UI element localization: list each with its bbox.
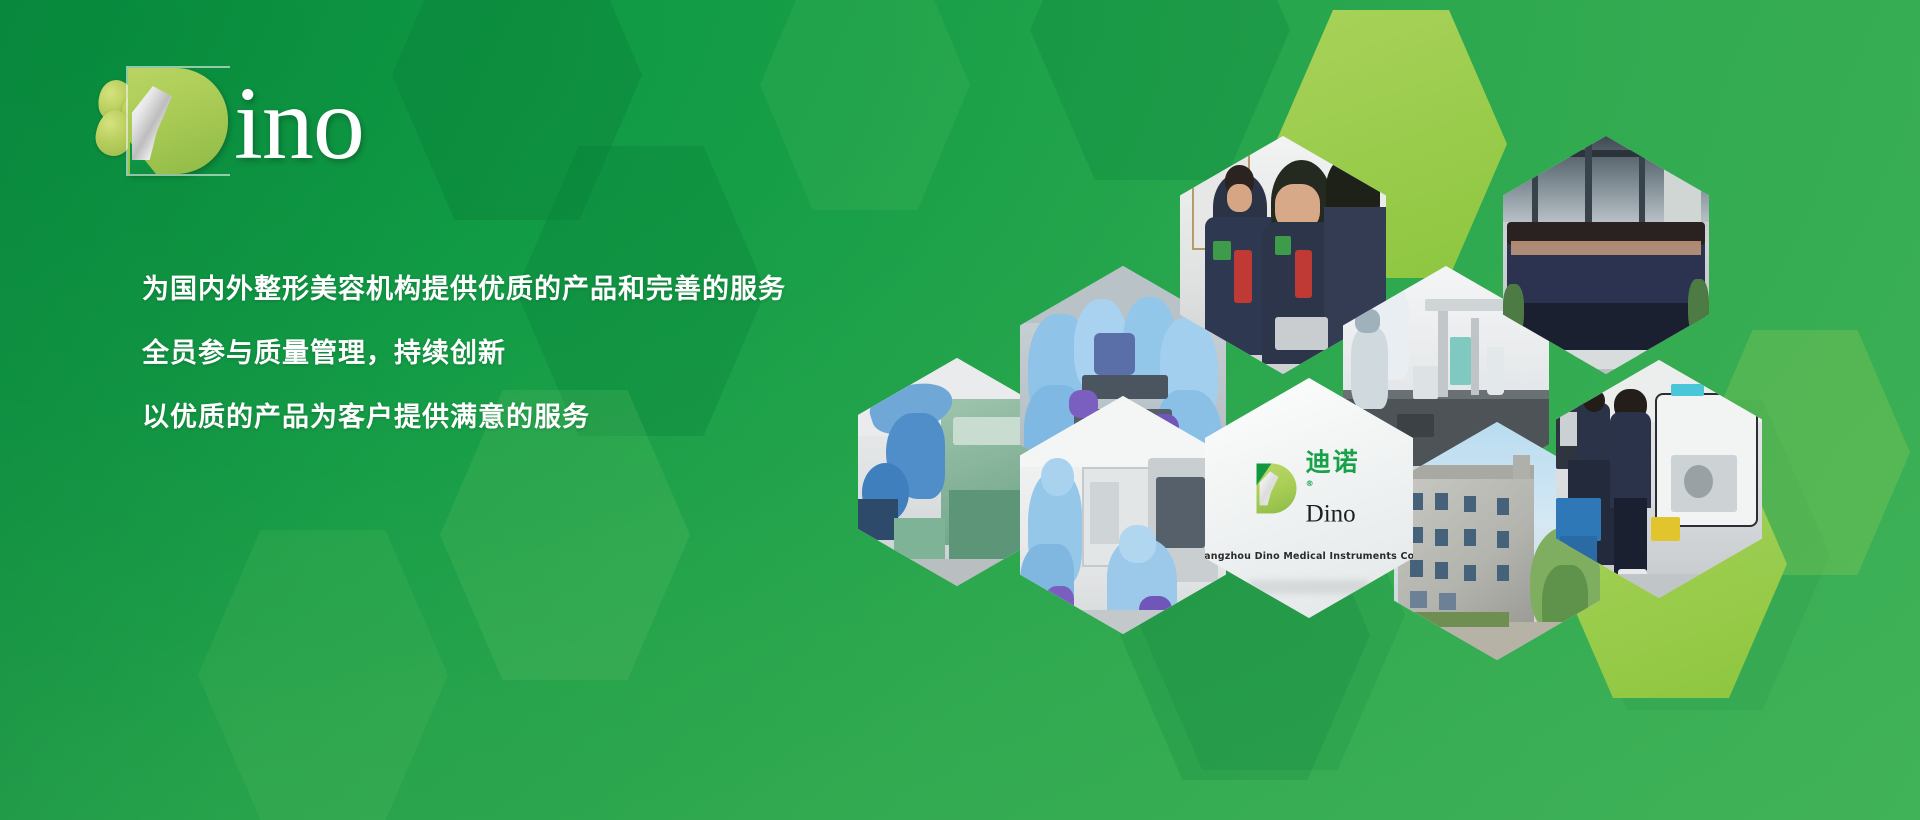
center-logo-cn: 迪诺® xyxy=(1306,450,1362,500)
center-logo-en: Dino xyxy=(1306,502,1362,527)
center-card-blurred-strip xyxy=(1249,580,1369,594)
brand-logo: ino xyxy=(96,66,426,176)
slogan-line-3: 以优质的产品为客户提供满意的服务 xyxy=(142,386,902,450)
center-card-logo: 迪诺® Dino xyxy=(1257,450,1362,527)
promo-banner: ino 为国内外整形美容机构提供优质的产品和完善的服务 全员参与质量管理，持续创… xyxy=(0,0,1920,820)
logo-wordmark: ino xyxy=(234,72,364,176)
slogan-line-2: 全员参与质量管理，持续创新 xyxy=(142,322,902,386)
slogan-line-1: 为国内外整形美容机构提供优质的产品和完善的服务 xyxy=(142,258,902,322)
dino-d-mark-icon xyxy=(126,66,230,176)
registered-mark-icon: ® xyxy=(1306,480,1316,489)
center-card-caption: Hangzhou Dino Medical Instruments Co.. xyxy=(1205,551,1413,562)
dino-mark-icon xyxy=(1257,463,1297,513)
slogan-list: 为国内外整形美容机构提供优质的产品和完善的服务 全员参与质量管理，持续创新 以优… xyxy=(142,258,902,450)
